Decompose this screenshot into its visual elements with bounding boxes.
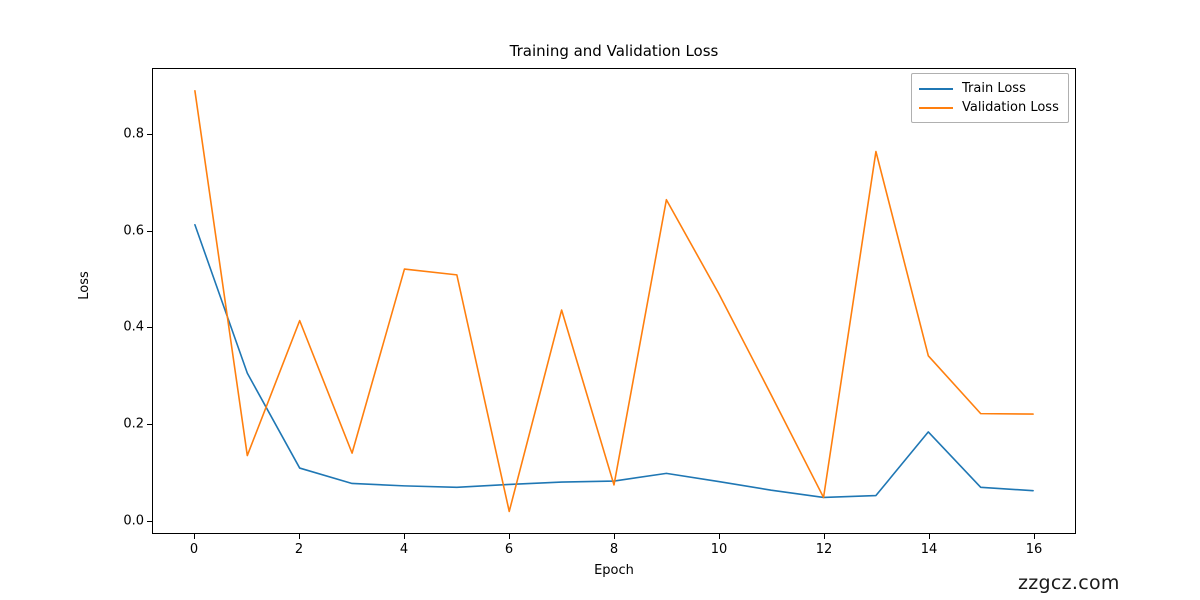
chart-title: Training and Validation Loss bbox=[152, 42, 1076, 60]
x-tick-label: 12 bbox=[816, 542, 833, 557]
y-tick-label: 0.8 bbox=[98, 126, 144, 141]
y-tick-label: 0.2 bbox=[98, 417, 144, 432]
watermark-text: zzgcz.com bbox=[1018, 572, 1120, 594]
x-tick-mark bbox=[824, 534, 825, 539]
x-tick-mark bbox=[929, 534, 930, 539]
legend-label: Train Loss bbox=[962, 81, 1026, 96]
y-tick-mark bbox=[147, 424, 152, 425]
x-tick-label: 10 bbox=[711, 542, 728, 557]
x-tick-mark bbox=[614, 534, 615, 539]
x-tick-mark bbox=[194, 534, 195, 539]
y-axis-label-container: Loss bbox=[78, 0, 118, 600]
x-tick-mark bbox=[1034, 534, 1035, 539]
x-tick-label: 0 bbox=[190, 542, 198, 557]
x-tick-label: 4 bbox=[400, 542, 408, 557]
legend-item: Train Loss bbox=[919, 79, 1059, 98]
y-axis-label: Loss bbox=[77, 271, 92, 300]
x-tick-mark bbox=[299, 534, 300, 539]
x-tick-label: 2 bbox=[295, 542, 303, 557]
plot-area bbox=[153, 69, 1075, 533]
x-tick-mark bbox=[509, 534, 510, 539]
y-tick-mark bbox=[147, 231, 152, 232]
x-tick-label: 6 bbox=[505, 542, 513, 557]
x-tick-label: 16 bbox=[1026, 542, 1043, 557]
y-tick-label: 0.4 bbox=[98, 320, 144, 335]
legend-color-swatch bbox=[919, 107, 953, 109]
x-tick-mark bbox=[719, 534, 720, 539]
series-line bbox=[195, 225, 1033, 498]
legend-label: Validation Loss bbox=[962, 100, 1059, 115]
x-tick-label: 8 bbox=[610, 542, 618, 557]
legend-item: Validation Loss bbox=[919, 98, 1059, 117]
chart-legend: Train LossValidation Loss bbox=[911, 73, 1069, 123]
y-tick-mark bbox=[147, 327, 152, 328]
y-tick-label: 0.0 bbox=[98, 514, 144, 529]
y-tick-mark bbox=[147, 521, 152, 522]
y-tick-label: 0.6 bbox=[98, 223, 144, 238]
legend-color-swatch bbox=[919, 88, 953, 90]
series-line bbox=[195, 91, 1033, 512]
x-axis-label: Epoch bbox=[152, 563, 1076, 578]
y-tick-mark bbox=[147, 134, 152, 135]
plot-axes bbox=[152, 68, 1076, 534]
x-tick-mark bbox=[404, 534, 405, 539]
figure-canvas: Training and Validation Loss Loss 0.00.2… bbox=[0, 0, 1200, 600]
x-tick-label: 14 bbox=[921, 542, 938, 557]
